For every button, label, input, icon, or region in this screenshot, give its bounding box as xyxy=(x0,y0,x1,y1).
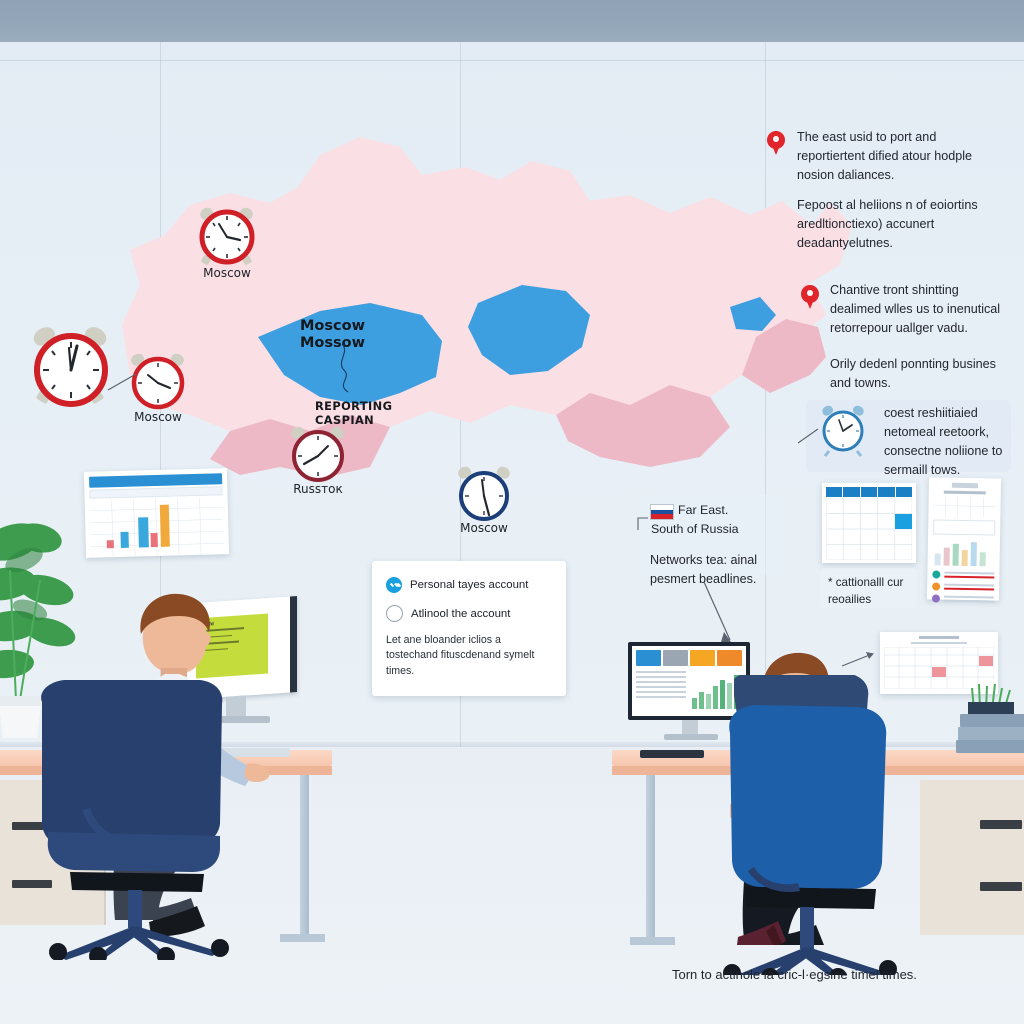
account-choice-card[interactable]: Personal tayes account Atlinool the acco… xyxy=(372,561,566,696)
map-connector-line xyxy=(330,338,370,398)
far-east-title-line2: South of Russia xyxy=(651,521,738,539)
bottom-caption: Torn to actinole ia cric-l·egsine timel … xyxy=(672,967,1012,982)
calendar-note-text: * cattionalll cur reoailies xyxy=(828,575,916,609)
clock-label: Moscow xyxy=(78,410,238,424)
far-east-title-line1: Far East. xyxy=(678,502,728,520)
desk-plant xyxy=(966,680,1018,714)
clock-label: Moscow xyxy=(404,521,564,535)
clock-connector-line xyxy=(106,370,146,394)
alarm-clock-icon xyxy=(820,405,866,457)
clock-moscow-north: Moscow xyxy=(196,206,258,278)
ceiling xyxy=(0,0,1024,42)
choice-option-unselected[interactable]: Atlinool the account xyxy=(386,605,552,622)
clock-label: Moscow xyxy=(147,266,307,280)
far-east-pointer-icon xyxy=(634,512,654,534)
location-pin-icon-top xyxy=(767,131,785,156)
annotation-mid-right-p2: Orily dedenl ponnting busines and towns. xyxy=(830,355,1012,393)
office-chair-right[interactable] xyxy=(700,675,930,975)
book-stack xyxy=(956,712,1024,754)
choice-option-selected[interactable]: Personal tayes account xyxy=(386,577,552,593)
office-chair-left[interactable] xyxy=(24,660,254,960)
annotation-top-right-p1: The east usid to port and reportiertent … xyxy=(797,128,1002,185)
clock-label: Russток xyxy=(238,482,398,496)
radio-unchecked-icon[interactable] xyxy=(386,605,403,622)
dashboard-poster-left xyxy=(84,468,229,558)
checkbox-checked-icon[interactable] xyxy=(386,577,402,593)
office-scene: Moscow Mossow REPORTING CASPIAN Moscow xyxy=(0,0,1024,1024)
annotation-top-right-p2: Fepoost al heliions n of eoiortins aredl… xyxy=(797,196,1002,253)
choice-unselected-label: Atlinool the account xyxy=(411,608,510,620)
wall-panel-line-top xyxy=(0,60,1024,61)
annotation-mid-right-p1: Chantive tront shintting dealimed wlles … xyxy=(830,281,1012,338)
choice-card-body: Let ane bloander iclios a tostechand fit… xyxy=(386,633,552,679)
location-pin-icon-mid xyxy=(801,285,819,310)
keyboard-right[interactable] xyxy=(640,750,704,758)
report-poster xyxy=(927,477,1001,600)
wall-calendar xyxy=(822,483,916,563)
clock-moscow-south: Moscow xyxy=(455,465,513,533)
russia-map xyxy=(70,75,870,505)
dashboard-tiles xyxy=(632,646,746,666)
clock-note-arrow-icon xyxy=(796,425,824,449)
clock-russtok: Russток xyxy=(288,425,348,495)
choice-selected-label: Personal tayes account xyxy=(410,579,528,591)
clock-large-left xyxy=(28,328,114,408)
annotation-clock-note: coest reshiitiaied netomeal reetoork, co… xyxy=(884,404,1012,480)
